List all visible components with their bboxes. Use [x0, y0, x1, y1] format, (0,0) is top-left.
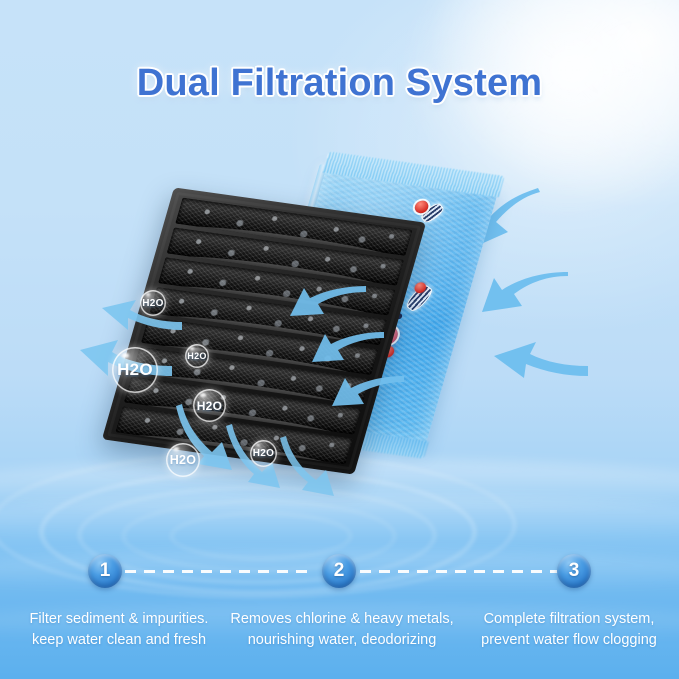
h2o-bubble: H2O: [193, 389, 226, 422]
h2o-bubble: H2O: [166, 443, 200, 477]
sponge-fiber-fringe-top: [323, 151, 505, 197]
step-connector-line: [360, 570, 558, 573]
h2o-bubble: H2O: [140, 290, 166, 316]
step-description-2: Removes chlorine & heavy metals, nourish…: [228, 609, 456, 651]
throughflow-arrow-icon: [310, 328, 386, 374]
step-number-1: 1: [88, 554, 122, 588]
h2o-bubble: H2O: [185, 344, 209, 368]
throughflow-arrow-icon: [330, 372, 406, 418]
step-number-label: 1: [100, 560, 111, 582]
h2o-bubble: H2O: [112, 347, 158, 393]
h2o-bubble-label: H2O: [117, 360, 153, 380]
step-description-line: prevent water flow clogging: [462, 630, 676, 651]
h2o-bubble-label: H2O: [170, 453, 197, 467]
h2o-bubble-label: H2O: [197, 399, 223, 413]
step-description-line: Filter sediment & impurities.: [8, 609, 230, 630]
step-description-line: Complete filtration system,: [462, 609, 676, 630]
h2o-bubble: H2O: [250, 440, 277, 467]
step-connector-line: [125, 570, 315, 573]
step-description-line: keep water clean and fresh: [8, 630, 230, 651]
step-description-3: Complete filtration system, prevent wate…: [462, 609, 676, 651]
h2o-bubble-label: H2O: [187, 351, 206, 361]
steps-section: 1 2 3 Filter sediment & impurities. keep…: [0, 554, 679, 679]
infographic-root: Dual Filtration System: [0, 0, 679, 679]
inflow-arrow-icon: [472, 330, 590, 382]
throughflow-arrow-icon: [288, 282, 368, 328]
step-number-2: 2: [322, 554, 356, 588]
step-description-1: Filter sediment & impurities. keep water…: [8, 609, 230, 651]
step-description-line: Removes chlorine & heavy metals,: [228, 609, 456, 630]
step-description-line: nourishing water, deodorizing: [228, 630, 456, 651]
inflow-arrow-icon: [460, 268, 570, 324]
h2o-bubble-label: H2O: [253, 448, 274, 459]
step-number-3: 3: [557, 554, 591, 588]
h2o-bubble-label: H2O: [142, 298, 163, 309]
step-number-label: 3: [569, 560, 580, 582]
outflow-arrow-icon: [276, 432, 346, 498]
step-number-label: 2: [334, 560, 345, 582]
